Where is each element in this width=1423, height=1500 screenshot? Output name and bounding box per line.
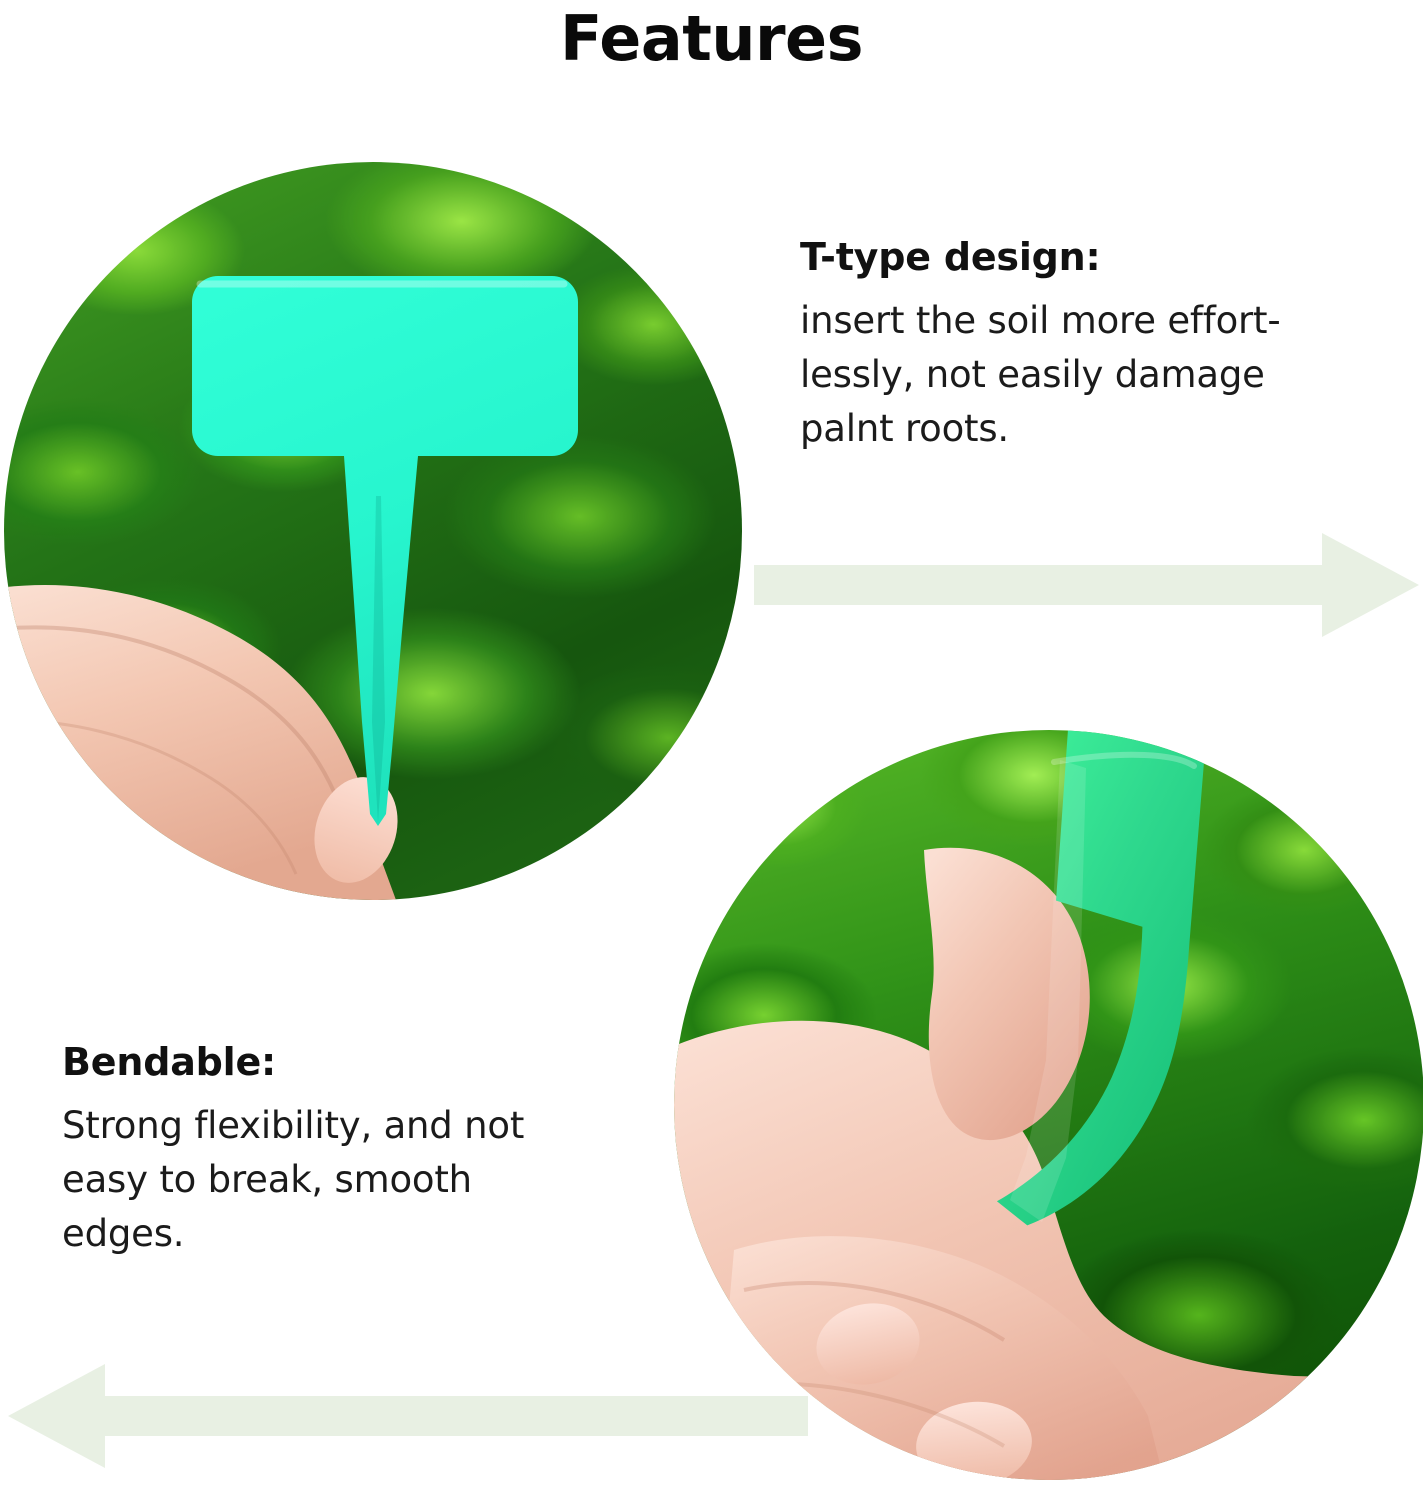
hand-holding-t-label-photo (4, 162, 742, 900)
features-infographic: Features (0, 0, 1423, 1500)
hand-shape (4, 585, 411, 900)
hand-bending-label-photo (674, 730, 1423, 1480)
feature-heading-bendable: Bendable: (62, 1043, 672, 1081)
feature-body-bendable: Strong flexibility, and not easy to brea… (62, 1099, 672, 1261)
bent-label-and-hand-illustration (674, 730, 1423, 1480)
feature-heading-t-type-design: T-type design: (800, 238, 1400, 276)
feature-t-type-design: T-type design: insert the soil more effo… (800, 238, 1400, 456)
t-label-and-hand-illustration (4, 162, 742, 900)
feature-bendable: Bendable: Strong flexibility, and not ea… (62, 1043, 672, 1261)
arrow-right-icon (754, 527, 1419, 643)
page-title: Features (0, 2, 1423, 75)
feature-body-t-type-design: insert the soil more effort- lessly, not… (800, 294, 1400, 456)
